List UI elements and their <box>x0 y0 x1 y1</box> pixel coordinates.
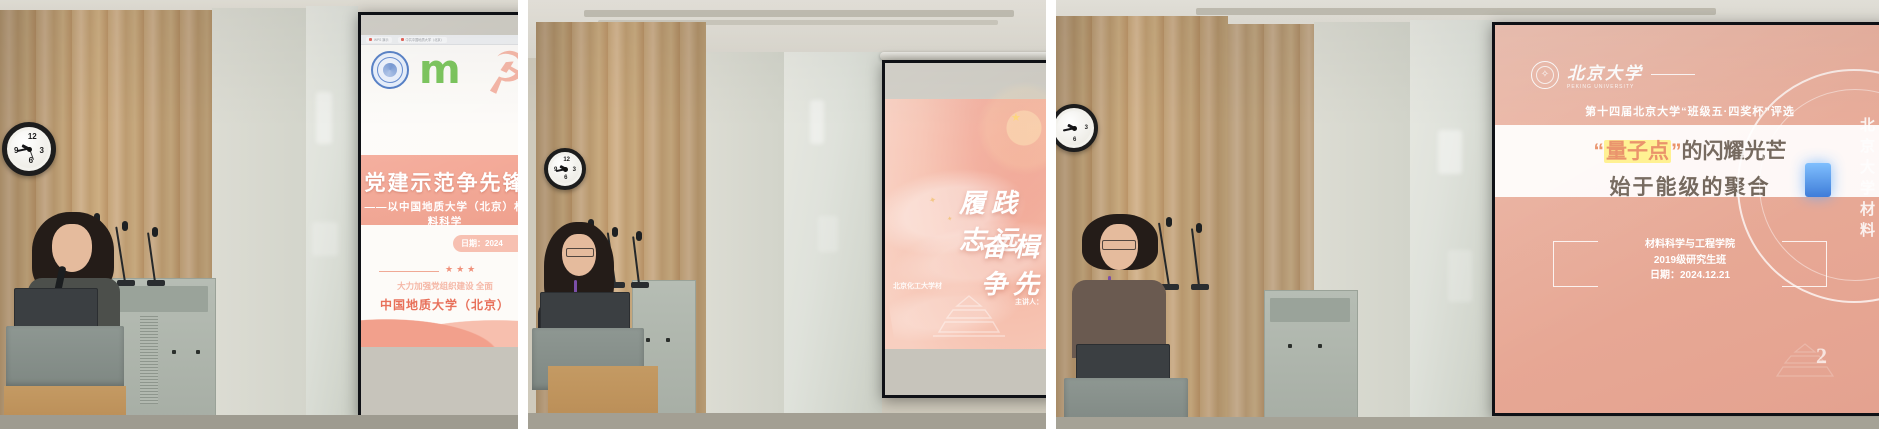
glass-reflection <box>1448 250 1472 302</box>
floor <box>1056 417 1879 429</box>
rack-vent <box>140 316 158 404</box>
projection-screen-frame-1: WPS 演示 中共中国地质大学（北京） m ☭ <box>358 12 518 418</box>
quote-open: “ <box>1594 140 1605 163</box>
glass-reflection <box>316 92 332 144</box>
clock-face: 3 6 <box>1057 111 1091 145</box>
slide-1: WPS 演示 中共中国地质大学（北京） m ☭ <box>361 35 518 347</box>
pku-logo-block: ✧ 北京大学 PEKING UNIVERSITY <box>1531 59 1695 90</box>
projection-screen-3: ✧ 北京大学 PEKING UNIVERSITY 第十四届北京大学“班级五·四奖… <box>1495 25 1879 413</box>
rack-button[interactable] <box>1288 344 1292 348</box>
rack-button[interactable] <box>666 338 670 342</box>
browser-tab-label: WPS 演示 <box>374 37 389 42</box>
m-letter-logo-icon: m <box>419 54 459 86</box>
slide-wave-decoration <box>361 299 518 347</box>
rack-button[interactable] <box>646 338 650 342</box>
slide-footer-left: 北京化工大学材 <box>893 281 942 291</box>
tab-favicon-icon <box>369 38 372 41</box>
slide-subtitle: ——以中国地质大学（北京）材料科学 <box>361 199 518 229</box>
eyeglasses-icon <box>1102 240 1136 250</box>
wall-clock: 12 3 6 9 <box>2 122 56 176</box>
laptop-screen <box>14 288 98 328</box>
rack-button[interactable] <box>1318 344 1322 348</box>
title-highlight: 量子点 <box>1604 140 1671 163</box>
university-name-en: PEKING UNIVERSITY <box>1567 84 1643 90</box>
stars-decoration-icon: ★★★ <box>445 264 478 275</box>
panel-3: 3 6 ✧ 北京大学 PEKING UNIVERSITY <box>1056 0 1879 429</box>
temple-of-heaven-icon <box>923 294 1015 343</box>
laptop-screen <box>1076 344 1170 380</box>
clock-center-pin <box>563 167 568 172</box>
plain-wall <box>212 8 320 429</box>
divider-rule <box>379 271 439 272</box>
seal-ring-text: 北京大学材料 <box>1856 117 1877 243</box>
screen-roller-housing <box>880 52 1046 60</box>
clock-face: 12 3 6 9 <box>10 130 48 168</box>
pku-seal-icon: ✧ <box>1531 61 1559 89</box>
glass-partition <box>306 6 358 429</box>
clock-number: 3 <box>1085 125 1088 131</box>
divider-dash <box>1651 74 1695 75</box>
glass-reflection <box>810 100 824 144</box>
lecture-room-2: 12 3 6 9 ★ ✦ <box>528 0 1046 429</box>
slide-date-label: 日期：2024 <box>461 238 503 249</box>
slide-title: 党建示范争先锋 <box>361 167 518 197</box>
lecture-room-3: 3 6 ✧ 北京大学 PEKING UNIVERSITY <box>1056 0 1879 429</box>
rack-button[interactable] <box>196 350 200 354</box>
browser-tab[interactable]: 中共中国地质大学（北京） <box>398 37 447 43</box>
floor <box>0 415 518 429</box>
temple-silhouette <box>923 294 1015 338</box>
clock-number: 12 <box>28 133 37 141</box>
screen-bottom-band <box>361 347 518 415</box>
clock-number: 6 <box>1073 137 1076 143</box>
panel-2: 12 3 6 9 ★ ✦ <box>528 0 1046 429</box>
rack-panel <box>118 286 208 312</box>
slide-calligraphy-line-2: 奋楫争先 <box>981 227 1046 301</box>
glass-reflection <box>1438 130 1462 174</box>
wall-clock: 12 3 6 9 <box>544 148 586 190</box>
plain-wall <box>706 52 784 429</box>
temple-of-heaven-icon <box>1767 342 1843 387</box>
floor <box>528 413 1046 429</box>
slide-2: ★ ✦ ✦ 履践志远 奋楫争先 北京化工大学材 主讲人： <box>885 99 1046 349</box>
slide-3: ✧ 北京大学 PEKING UNIVERSITY 第十四届北京大学“班级五·四奖… <box>1495 25 1879 413</box>
university-name-cn: 北京大学 <box>1567 59 1643 84</box>
tab-favicon-icon <box>401 38 404 41</box>
ceiling-light-beam <box>584 10 1014 17</box>
glass-partition <box>1410 20 1492 429</box>
projection-screen-frame-2: ★ ✦ ✦ 履践志远 奋楫争先 北京化工大学材 主讲人： <box>882 60 1046 398</box>
clock-center-pin <box>1072 126 1077 131</box>
photo-triptych: 12 3 6 9 <box>0 0 1879 429</box>
clock-center-pin <box>27 147 32 152</box>
clock-number: 3 <box>573 167 576 173</box>
rack-button[interactable] <box>172 350 176 354</box>
clock-face: 12 3 6 9 <box>551 155 579 183</box>
podium <box>6 326 124 386</box>
quantum-dot-vial-icon <box>1805 163 1831 197</box>
screen-top-band <box>361 15 518 35</box>
cugb-seal-logo-icon <box>371 51 409 89</box>
quote-close: ” <box>1671 140 1682 163</box>
panel-1: 12 3 6 9 <box>0 0 518 429</box>
glass-reflection <box>312 222 338 256</box>
slide-title-band: 党建示范争先锋 ——以中国地质大学（北京）材料科学 <box>361 155 518 225</box>
face <box>52 224 92 272</box>
slide-slogan: 大力加强党组织建设 全面 <box>361 280 518 292</box>
projection-screen-1: WPS 演示 中共中国地质大学（北京） m ☭ <box>361 15 518 415</box>
browser-tab[interactable]: WPS 演示 <box>366 37 392 43</box>
presenter <box>1082 214 1158 354</box>
lecture-room-1: 12 3 6 9 <box>0 0 518 429</box>
browser-tab-label: 中共中国地质大学（北京） <box>406 37 444 42</box>
clock-number: 3 <box>40 147 44 155</box>
hammer-and-sickle-icon: ☭ <box>479 42 518 104</box>
clock-number: 6 <box>564 175 567 181</box>
eyeglasses-icon <box>566 248 594 257</box>
clock-number: 12 <box>563 157 570 163</box>
star-icon: ★ <box>1011 111 1021 124</box>
slide-date-pill: 日期：2024 <box>453 235 518 252</box>
projection-screen-2: ★ ✦ ✦ 履践志远 奋楫争先 北京化工大学材 主讲人： <box>885 63 1046 395</box>
rack-panel <box>1270 298 1350 322</box>
temple-silhouette <box>1767 342 1843 382</box>
projection-screen-frame-3: ✧ 北京大学 PEKING UNIVERSITY 第十四届北京大学“班级五·四奖… <box>1492 22 1879 416</box>
slide-footer-right: 主讲人： <box>1015 297 1043 307</box>
glass-reflection <box>818 216 838 252</box>
ceiling-light-beam <box>1196 8 1716 15</box>
laptop-screen <box>540 292 630 330</box>
slide-logo-row: m <box>371 51 459 89</box>
